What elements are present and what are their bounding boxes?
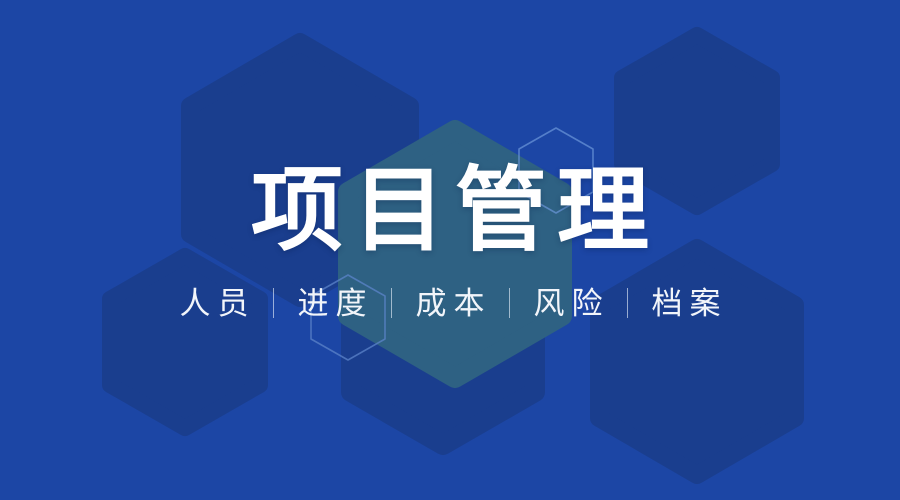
- subtitle-item-2: 成本: [409, 288, 492, 319]
- subtitle-item-4: 档案: [645, 288, 728, 319]
- subtitle-separator-2: [509, 288, 510, 318]
- subtitle-item-0: 人员: [173, 288, 256, 319]
- page-title: 项目管理: [241, 163, 659, 260]
- subtitle-item-1: 进度: [291, 288, 374, 319]
- project-management-banner: 项目管理 人员 进度 成本 风险 档案: [0, 0, 900, 500]
- subtitle-item-3: 风险: [527, 288, 610, 319]
- subtitle-separator-3: [627, 288, 628, 318]
- subtitle-separator-1: [391, 288, 392, 318]
- subtitle-separator-0: [273, 288, 274, 318]
- banner-content: 项目管理 人员 进度 成本 风险 档案: [0, 0, 900, 500]
- subtitle-list: 人员 进度 成本 风险 档案: [173, 288, 728, 319]
